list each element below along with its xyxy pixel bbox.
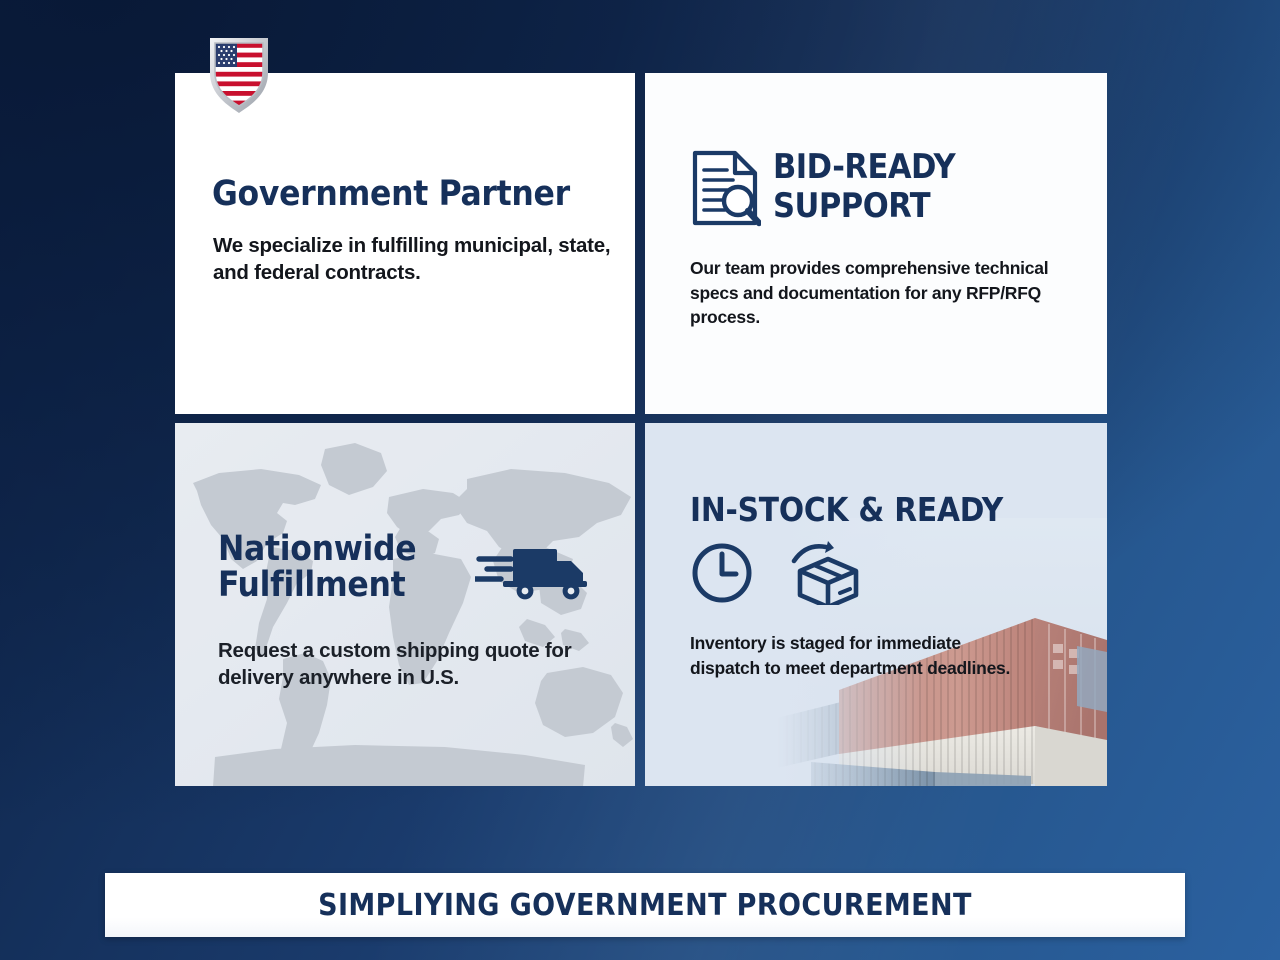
clock-icon bbox=[695, 546, 749, 600]
card-title-in-stock-and-ready: IN-STOCK & READY bbox=[690, 493, 1003, 527]
card-title-line1: Nationwide bbox=[218, 531, 416, 567]
feature-card-grid: Government Partner We specialize in fulf… bbox=[175, 73, 1107, 786]
card-title-line1: BID-READY bbox=[773, 148, 955, 187]
us-flag-shield-icon bbox=[207, 33, 271, 113]
card-bid-ready-support[interactable]: BID-READY SUPPORT Our team provides comp… bbox=[645, 73, 1107, 414]
banner-text: SIMPLIYING GOVERNMENT PROCUREMENT bbox=[318, 888, 972, 923]
card-icon-group-in-stock bbox=[690, 541, 890, 605]
card-government-partner[interactable]: Government Partner We specialize in fulf… bbox=[175, 73, 635, 414]
bottom-banner: SIMPLIYING GOVERNMENT PROCUREMENT bbox=[105, 873, 1185, 937]
card-in-stock-and-ready[interactable]: IN-STOCK & READY Inventory is stage bbox=[645, 423, 1107, 786]
card-body-government-partner: We specialize in fulfilling municipal, s… bbox=[213, 233, 613, 286]
delivery-truck-icon bbox=[475, 541, 595, 603]
card-title-bid-ready-support: BID-READY SUPPORT bbox=[773, 148, 955, 227]
card-nationwide-fulfillment[interactable]: Nationwide Fulfillment bbox=[175, 423, 635, 786]
card-body-bid-ready-support: Our team provides comprehensive technica… bbox=[690, 256, 1050, 330]
card-body-nationwide-fulfillment: Request a custom shipping quote for deli… bbox=[218, 638, 608, 691]
box-rotate-arrow-icon bbox=[794, 541, 856, 605]
card-title-line2: Fulfillment bbox=[218, 567, 416, 603]
card-title-line2: SUPPORT bbox=[773, 187, 955, 226]
document-magnifier-icon bbox=[689, 148, 761, 228]
card-title-government-partner: Government Partner bbox=[212, 176, 570, 212]
card-body-in-stock-and-ready: Inventory is staged for immediate dispat… bbox=[690, 631, 1030, 681]
card-title-nationwide-fulfillment: Nationwide Fulfillment bbox=[218, 531, 416, 604]
